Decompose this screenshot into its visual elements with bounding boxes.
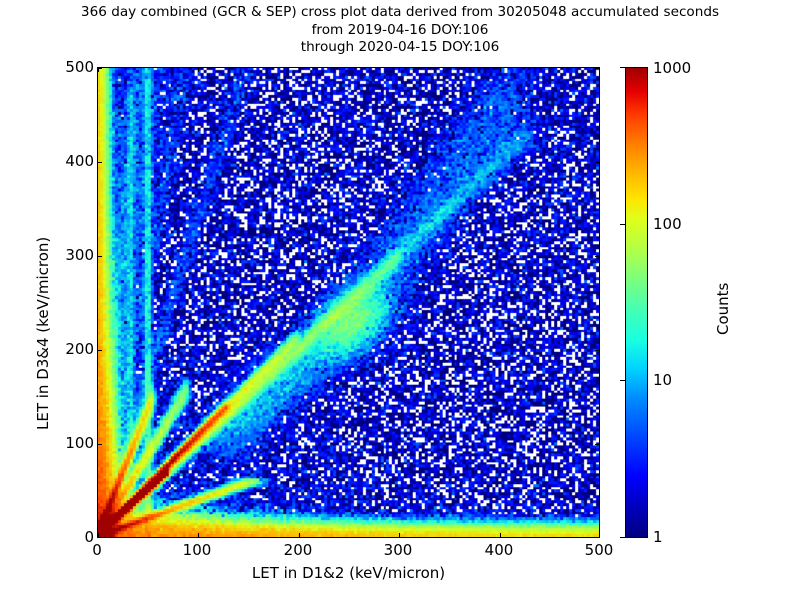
yticklabel-100: 100: [65, 434, 94, 452]
ytick-right-100: [595, 444, 599, 445]
cbticklabel-1: 1: [653, 528, 663, 546]
xtick-top-200: [299, 68, 300, 72]
title-line-2: from 2019-04-16 DOY:106: [0, 22, 800, 40]
plot-area[interactable]: [97, 67, 600, 538]
colorbar[interactable]: [625, 67, 648, 538]
yticklabel-0: 0: [84, 528, 94, 546]
xtick-400: [500, 533, 501, 537]
chart-title: 366 day combined (GCR & SEP) cross plot …: [0, 4, 800, 57]
xticklabel-200: 200: [284, 541, 313, 559]
xticklabel-300: 300: [384, 541, 413, 559]
yticklabel-500: 500: [65, 58, 94, 76]
yticklabel-400: 400: [65, 152, 94, 170]
cbtick-1000: [620, 67, 625, 68]
cbticklabel-10: 10: [653, 371, 672, 389]
ytick-right-200: [595, 350, 599, 351]
xtick-top-400: [500, 68, 501, 72]
xtick-200: [299, 533, 300, 537]
xtick-top-100: [198, 68, 199, 72]
ytick-100: [98, 444, 102, 445]
ytick-200: [98, 350, 102, 351]
figure-canvas: 366 day combined (GCR & SEP) cross plot …: [0, 0, 800, 600]
ytick-right-300: [595, 256, 599, 257]
xtick-top-300: [399, 68, 400, 72]
xtick-300: [399, 533, 400, 537]
density-heatmap: [98, 68, 599, 537]
yticklabel-300: 300: [65, 246, 94, 264]
xtick-top-500: [599, 68, 600, 72]
x-axis-label: LET in D1&2 (keV/micron): [97, 564, 600, 582]
ytick-right-400: [595, 162, 599, 163]
ytick-300: [98, 256, 102, 257]
xtick-100: [198, 533, 199, 537]
colorbar-gradient: [625, 67, 648, 538]
ytick-400: [98, 162, 102, 163]
xtick-0: [98, 533, 99, 537]
colorbar-label: Counts: [714, 283, 732, 335]
xtick-500: [599, 533, 600, 537]
ytick-right-500: [595, 68, 599, 69]
title-line-3: through 2020-04-15 DOY:106: [0, 39, 800, 57]
cbtick-100: [620, 224, 625, 225]
title-line-1: 366 day combined (GCR & SEP) cross plot …: [0, 4, 800, 22]
cbticklabel-100: 100: [653, 215, 682, 233]
cbtick-1: [620, 537, 625, 538]
xticklabel-100: 100: [183, 541, 212, 559]
y-axis-label: LET in D3&4 (keV/micron): [34, 237, 52, 430]
cbticklabel-1000: 1000: [653, 59, 691, 77]
xticklabel-400: 400: [485, 541, 514, 559]
xticklabel-500: 500: [585, 541, 614, 559]
cbtick-10: [620, 380, 625, 381]
ytick-500: [98, 68, 102, 69]
yticklabel-200: 200: [65, 340, 94, 358]
